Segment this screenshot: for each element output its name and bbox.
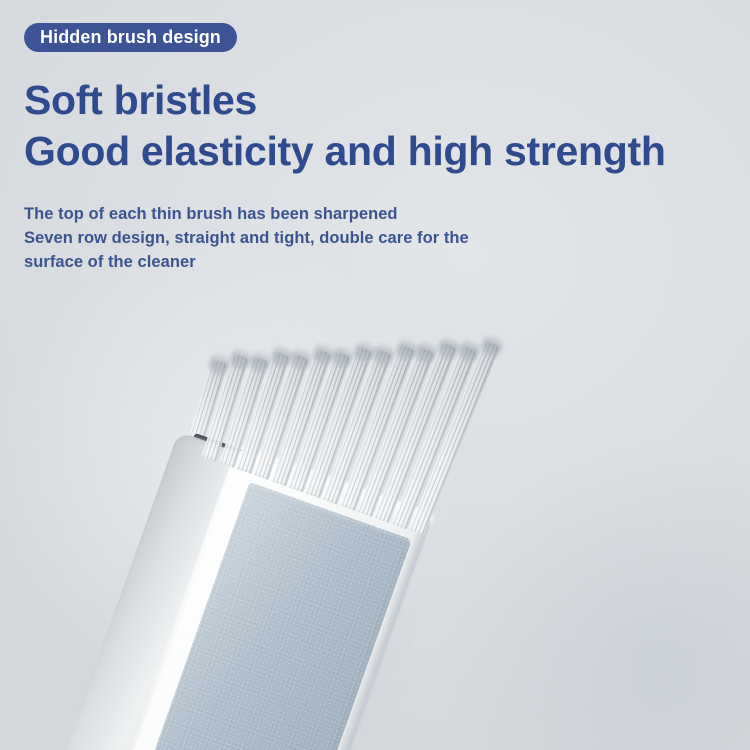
feature-badge: Hidden brush design xyxy=(24,23,237,52)
body-copy-line-1: The top of each thin brush has been shar… xyxy=(24,202,469,226)
product-image xyxy=(40,256,523,750)
body-copy-line-2: Seven row design, straight and tight, do… xyxy=(24,226,469,250)
headline-line-1: Soft bristles xyxy=(24,77,257,124)
product-feature-banner: Hidden brush design Soft bristles Good e… xyxy=(0,0,750,750)
headline-line-2: Good elasticity and high strength xyxy=(24,128,666,175)
